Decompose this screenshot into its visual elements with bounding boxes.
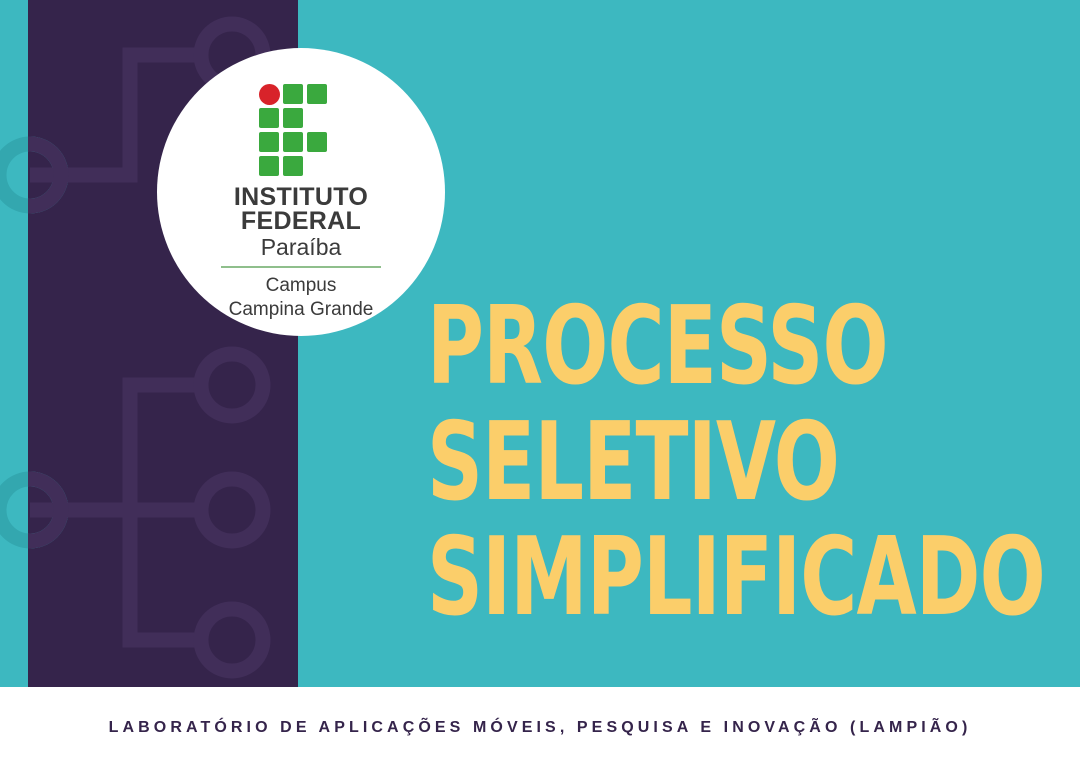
logo-green-square-r4c1 bbox=[259, 156, 279, 176]
logo-institution-line1: INSTITUTO bbox=[234, 186, 368, 210]
logo-green-square-r1c2 bbox=[283, 84, 303, 104]
ifpb-logo-badge: INSTITUTO FEDERAL Paraíba Campus Campina… bbox=[157, 48, 445, 336]
logo-institution-line2: FEDERAL bbox=[241, 210, 361, 234]
headline-line-1: PROCESSO bbox=[427, 296, 923, 398]
headline-line-3: SIMPLIFICADO bbox=[427, 527, 923, 629]
footer-lab-name: LABORATÓRIO DE APLICAÇÕES MÓVEIS, PESQUI… bbox=[109, 719, 972, 737]
logo-green-square-r1c3 bbox=[307, 84, 327, 104]
logo-green-square-r3c1 bbox=[259, 132, 279, 152]
logo-green-square-r2c2 bbox=[283, 108, 303, 128]
logo-green-square-r3c2 bbox=[283, 132, 303, 152]
logo-campus-label: Campus bbox=[266, 274, 337, 297]
logo-campus-name: Campina Grande bbox=[229, 298, 374, 321]
logo-green-square-r2c1 bbox=[259, 108, 279, 128]
footer-bar: LABORATÓRIO DE APLICAÇÕES MÓVEIS, PESQUI… bbox=[0, 687, 1080, 768]
ifpb-logo-mark bbox=[259, 84, 343, 174]
logo-green-square-r3c3 bbox=[307, 132, 327, 152]
logo-red-dot-icon bbox=[259, 84, 280, 105]
headline-line-2: SELETIVO bbox=[427, 412, 923, 514]
logo-divider-rule bbox=[221, 266, 381, 268]
poster-canvas: INSTITUTO FEDERAL Paraíba Campus Campina… bbox=[0, 0, 1080, 768]
logo-state-name: Paraíba bbox=[261, 234, 342, 260]
headline-block: PROCESSO SELETIVO SIMPLIFICADO bbox=[427, 296, 1047, 643]
logo-green-square-r4c2 bbox=[283, 156, 303, 176]
